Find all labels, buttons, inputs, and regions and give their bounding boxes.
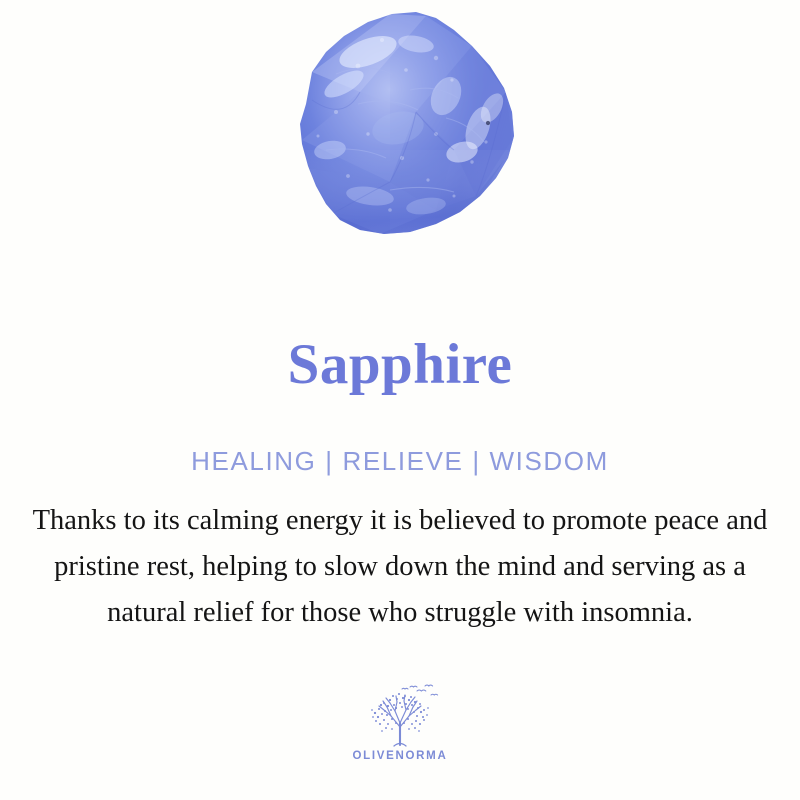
product-info-card: Sapphire HEALING | RELIEVE | WISDOM Than… bbox=[0, 0, 800, 800]
brand-logo: OLIVENORMA bbox=[0, 683, 800, 762]
brand-wordmark: OLIVENORMA bbox=[353, 750, 448, 762]
page-title: Sapphire bbox=[0, 332, 800, 398]
sapphire-gemstone-icon bbox=[240, 0, 560, 260]
sapphire-gemstone-image bbox=[0, 0, 800, 320]
tree-logo-icon bbox=[361, 683, 439, 749]
description-text: Thanks to its calming energy it is belie… bbox=[30, 498, 770, 636]
keyword-tagline: HEALING | RELIEVE | WISDOM bbox=[0, 445, 800, 477]
